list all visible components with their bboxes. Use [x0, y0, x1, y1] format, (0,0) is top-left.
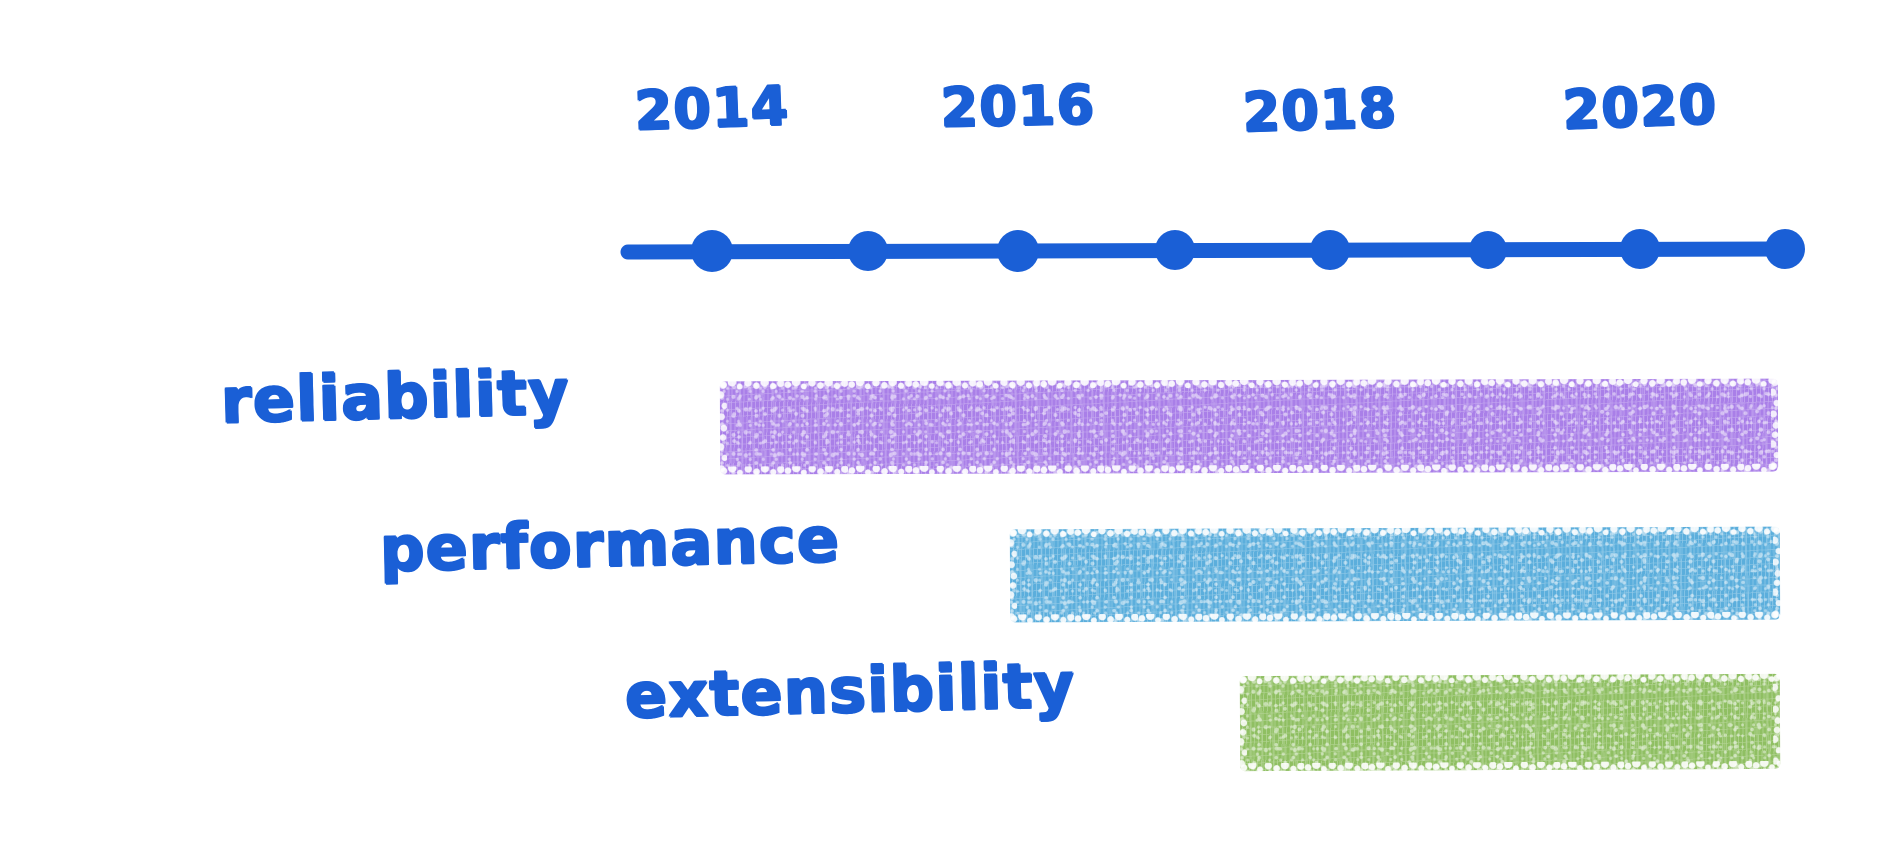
bar-edge-bottom — [1240, 761, 1780, 772]
bar-edge-left — [1239, 676, 1247, 771]
axis-line-group — [628, 229, 1805, 272]
bar-texture-streaks — [1240, 674, 1780, 771]
row-label-performance: performance — [379, 509, 840, 581]
axis-tick-dot — [1310, 230, 1350, 270]
axis-year-label-2018: 2018 — [1242, 82, 1398, 141]
bar-extensibility — [1240, 674, 1780, 771]
axis-tick-dot — [848, 231, 888, 271]
bar-texture-streaks — [720, 379, 1778, 475]
bar-edge-right — [1773, 674, 1781, 769]
axis-tick-dot — [1765, 229, 1805, 269]
axis-tick-dot — [997, 230, 1039, 272]
bar-edge-bottom — [1010, 612, 1780, 624]
axis-year-label-2014: 2014 — [634, 79, 790, 138]
bar-texture-streaks — [1010, 527, 1780, 623]
axis-year-label-2020: 2020 — [1562, 78, 1719, 138]
axis-tick-dot — [691, 230, 733, 272]
bar-performance — [1010, 527, 1780, 623]
axis-tick-dot — [1620, 229, 1660, 269]
axis-tick-dot — [1155, 230, 1195, 270]
bar-edge-left — [1009, 529, 1017, 622]
bar-edge-right — [1773, 527, 1781, 620]
bar-edge-right — [1771, 379, 1779, 472]
axis-year-label-2016: 2016 — [940, 78, 1096, 135]
axis-tick-dot — [1469, 231, 1507, 269]
bar-reliability — [720, 379, 1778, 475]
row-label-reliability: reliability — [220, 361, 570, 432]
bar-edge-bottom — [720, 464, 1778, 476]
sketch-timeline-chart: 2014 2016 2018 2020 reliability performa… — [0, 0, 1900, 854]
axis-line — [628, 249, 1790, 252]
bar-edge-left — [719, 381, 727, 474]
row-label-extensibility: extensibility — [624, 655, 1076, 728]
